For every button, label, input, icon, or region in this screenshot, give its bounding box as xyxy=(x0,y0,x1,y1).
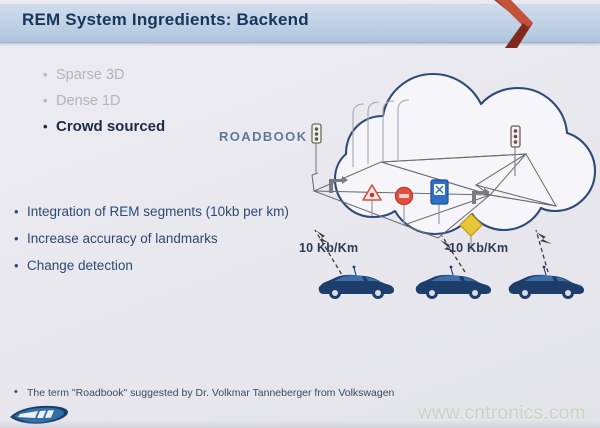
main-list-item-accuracy[interactable]: Increase accuracy of landmarks xyxy=(14,225,314,252)
car-icon xyxy=(319,266,394,299)
uplink-bolt-icon xyxy=(317,231,552,252)
footer-divider xyxy=(0,380,600,381)
main-list-item-integration[interactable]: Integration of REM segments (10kb per km… xyxy=(14,198,314,225)
slide-canvas: REM System Ingredients: Backend Sparse 3… xyxy=(0,0,600,428)
vehicle-fleet-layer xyxy=(300,228,590,318)
uplink-dashed-line xyxy=(315,230,548,280)
page-title: REM System Ingredients: Backend xyxy=(22,10,309,30)
sub-list-item-label: Crowd sourced xyxy=(56,118,165,135)
traffic-light-icon xyxy=(312,124,321,174)
sub-list-item-crowd-sourced[interactable]: Crowd sourced xyxy=(42,114,242,140)
sub-list-item-sparse-3d[interactable]: Sparse 3D xyxy=(42,62,242,88)
footer-note: The term "Roadbook" suggested by Dr. Vol… xyxy=(14,387,394,399)
main-list-item-label: Integration of REM segments (10kb per km… xyxy=(27,204,289,219)
main-list-item-change-detection[interactable]: Change detection xyxy=(14,252,314,279)
ingredient-sub-list: Sparse 3D Dense 1D Crowd sourced xyxy=(42,62,242,140)
bottom-shade xyxy=(0,420,600,428)
title-bar-underline xyxy=(0,42,600,46)
sub-list-item-label: Dense 1D xyxy=(56,93,120,109)
cloud-shape-icon xyxy=(335,74,595,234)
backend-feature-list: Integration of REM segments (10kb per km… xyxy=(14,198,314,279)
main-list-item-label: Change detection xyxy=(27,258,133,273)
car-icon xyxy=(509,266,584,299)
car-icon xyxy=(416,266,491,299)
sub-list-item-label: Sparse 3D xyxy=(56,67,125,83)
main-list-item-label: Increase accuracy of landmarks xyxy=(27,231,218,246)
sub-list-item-dense-1d[interactable]: Dense 1D xyxy=(42,88,242,114)
